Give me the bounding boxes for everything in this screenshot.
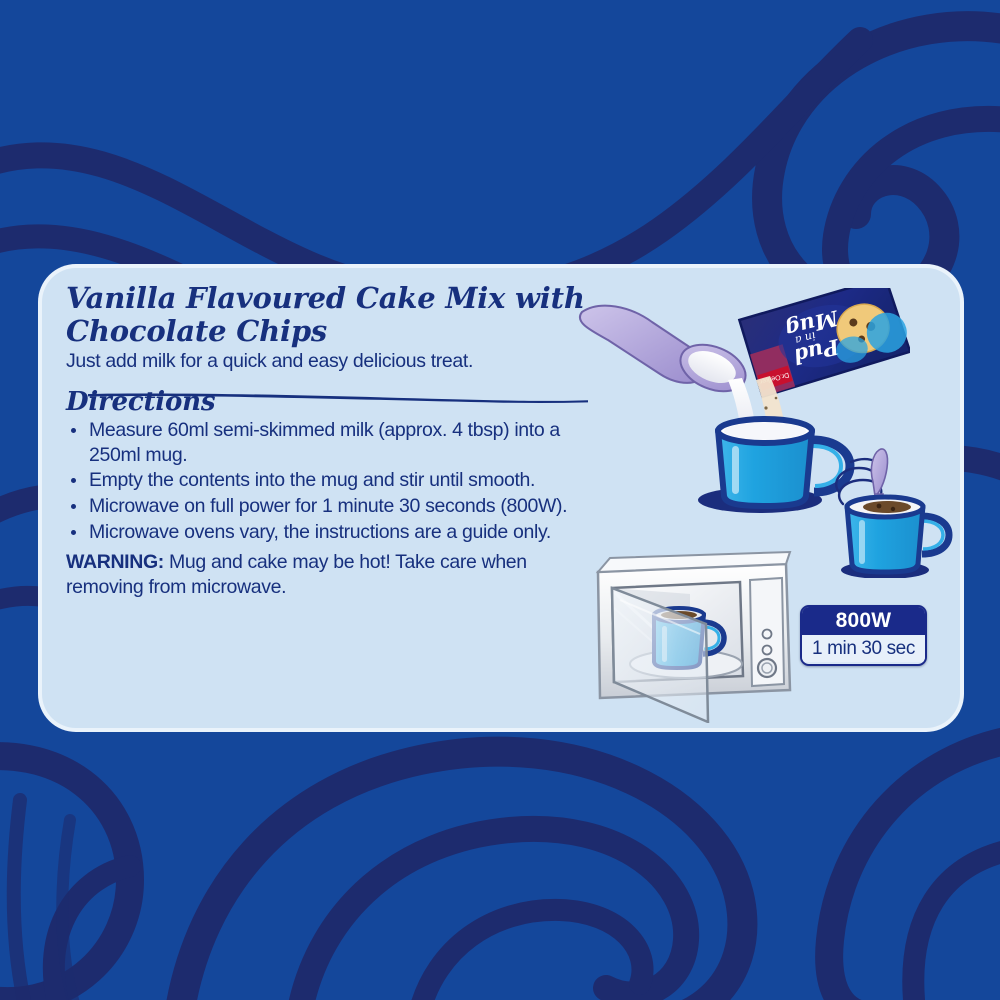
stir-swirl-lines <box>836 459 883 504</box>
badge-power-value: 800W <box>802 607 925 635</box>
control-button-2 <box>763 646 772 655</box>
list-item: Microwave ovens vary, the instructions a… <box>66 520 586 545</box>
microwave-illustration <box>590 548 800 723</box>
sachet-illustration: Dr.Oetker Pud in a Mug <box>734 288 910 438</box>
step-text: Microwave on full power for 1 minute 30 … <box>89 495 567 517</box>
stir-mug-illustration <box>817 438 957 578</box>
spoon-icon <box>871 449 888 534</box>
control-panel <box>750 578 784 686</box>
spoon-icon <box>580 306 753 401</box>
power-time-badge: 800W 1 min 30 sec <box>800 605 927 666</box>
mug-icon <box>847 497 949 572</box>
list-item: Microwave on full power for 1 minute 30 … <box>66 494 586 519</box>
control-button-1 <box>763 630 772 639</box>
package-artwork: Vanilla Flavoured Cake Mix with Chocolat… <box>0 0 1000 1000</box>
saucer <box>698 487 822 513</box>
list-item: Measure 60ml semi-skimmed milk (approx. … <box>66 418 586 467</box>
mug-icon <box>654 608 724 668</box>
warning-paragraph: WARNING: Mug and cake may be hot! Take c… <box>66 550 586 599</box>
warning-label: WARNING: <box>66 551 164 573</box>
sachet-brand-mug: Mug <box>783 305 842 342</box>
bullet-icon <box>71 530 76 535</box>
sachet-brand-ina: in a <box>794 329 817 347</box>
powder-stream <box>756 376 786 438</box>
bullet-icon <box>71 428 76 433</box>
bullet-icon <box>71 504 76 509</box>
sachet-brand-pud: Pud <box>791 334 843 370</box>
instructions-text-column: Vanilla Flavoured Cake Mix with Chocolat… <box>66 282 586 600</box>
saucer <box>841 561 929 578</box>
instructions-card: Vanilla Flavoured Cake Mix with Chocolat… <box>42 268 960 728</box>
control-dial <box>758 659 776 677</box>
product-title: Vanilla Flavoured Cake Mix with Chocolat… <box>66 282 586 348</box>
mug-with-milk-icon <box>718 419 850 506</box>
step-text: Empty the contents into the mug and stir… <box>89 469 535 491</box>
bullet-icon <box>71 478 76 483</box>
milk-stream <box>728 378 756 440</box>
microwave-door <box>612 588 708 722</box>
step-text: Measure 60ml semi-skimmed milk (approx. … <box>89 419 560 466</box>
pour-milk-and-mix-illustration: Dr.Oetker Pud in a Mug <box>560 288 910 518</box>
directions-list: Measure 60ml semi-skimmed milk (approx. … <box>66 418 586 544</box>
turntable-plate <box>630 650 742 678</box>
product-subtitle: Just add milk for a quick and easy delic… <box>66 350 586 373</box>
step-text: Microwave ovens vary, the instructions a… <box>89 521 551 543</box>
sachet-logo-text: Dr.Oetker <box>758 371 789 385</box>
list-item: Empty the contents into the mug and stir… <box>66 468 586 493</box>
badge-time-value: 1 min 30 sec <box>802 635 925 662</box>
title-divider-swoosh <box>88 390 588 404</box>
